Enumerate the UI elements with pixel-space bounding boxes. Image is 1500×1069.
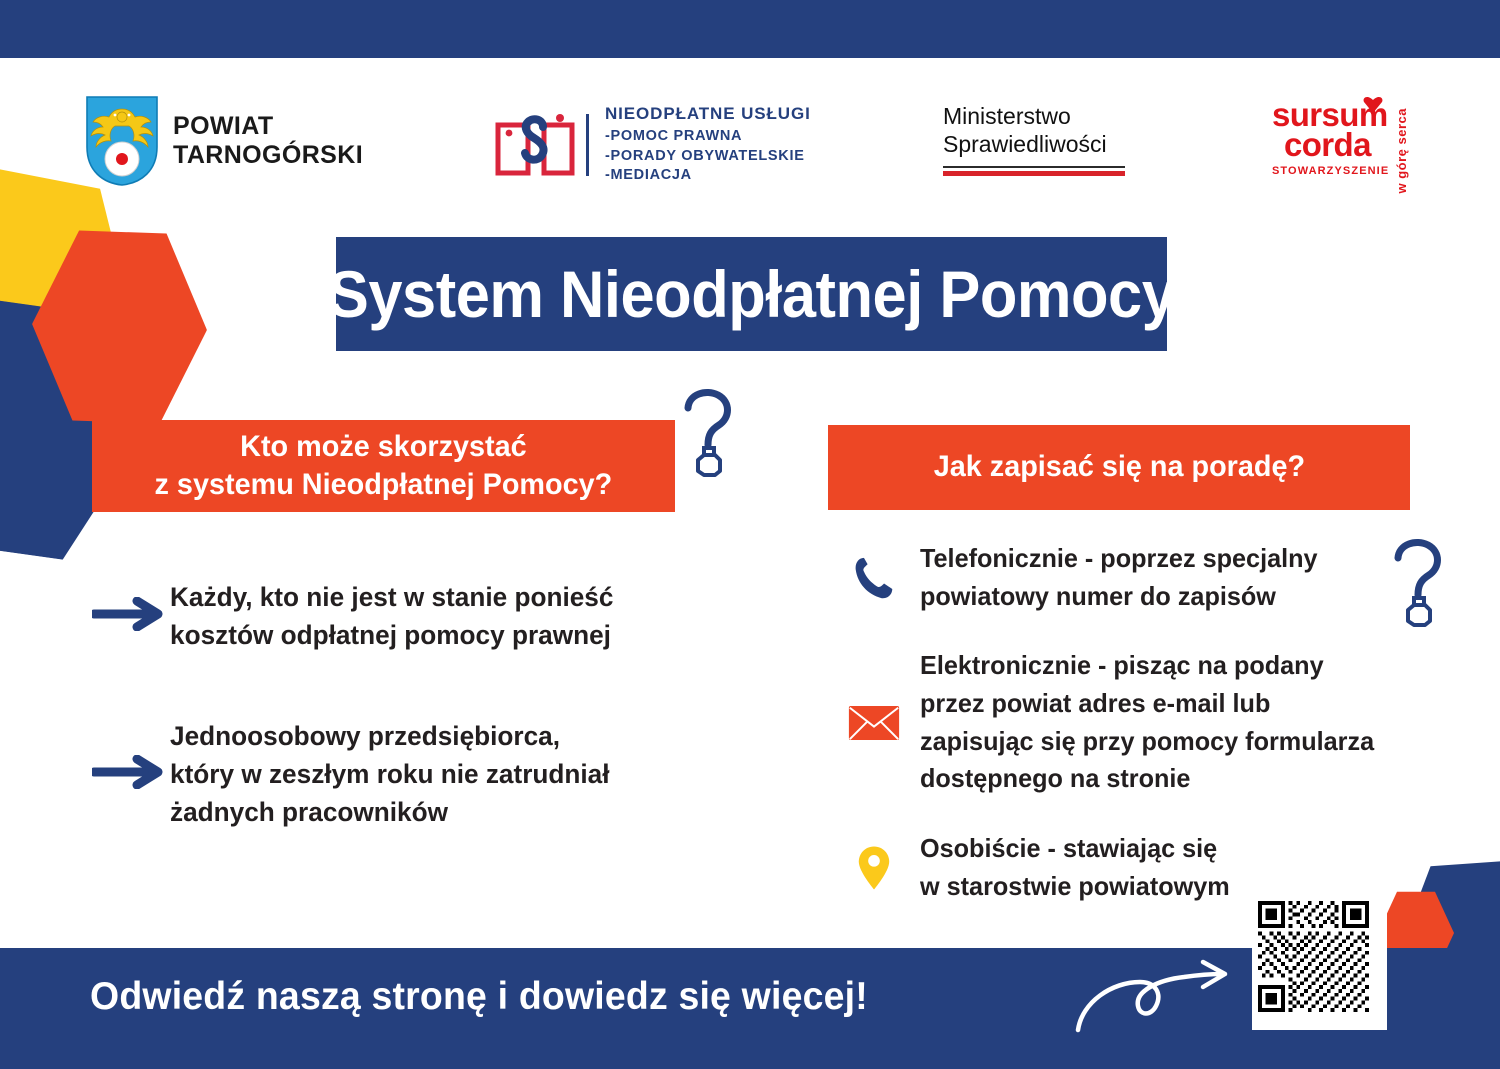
powiat-name: POWIAT TARNOGÓRSKI [173,112,363,171]
ministerstwo-text: Ministerstwo Sprawiedliwości [943,102,1125,158]
sursum-association: STOWARZYSZENIE [1272,165,1389,177]
list-item: Jednoosobowy przedsiębiorca, który w zes… [92,717,712,832]
paragraph-book-icon [492,107,580,183]
right-item-3-line-2: w starostwie powiatowym [920,868,1230,906]
list-item-text: Telefonicznie - poprzez specjalny powiat… [920,540,1318,615]
question-mark-icon-left [678,386,742,478]
right-item-2-line-2: przez powiat adres e-mail lub [920,685,1374,723]
curved-arrow-icon [1072,958,1252,1036]
left-item-2-line-1: Jednoosobowy przedsiębiorca, [170,717,610,755]
ministerstwo-rule-black [943,166,1125,168]
section-header-left-line-2: z systemu Nieodpłatnej Pomocy? [155,466,613,504]
logo-row: POWIAT TARNOGÓRSKI NIEODPŁATNE USŁUGI -P… [0,92,1500,197]
sursum-motto: w górę serca [1394,108,1409,194]
right-item-1-line-1: Telefonicznie - poprzez specjalny [920,540,1318,578]
left-item-1-line-2: kosztów odpłatnej pomocy prawnej [170,616,613,654]
nieodplatne-item-1: -POMOC PRAWNA [605,127,811,147]
list-item-text: Elektronicznie - pisząc na podany przez … [920,647,1374,798]
nieodplatne-text: NIEODPŁATNE USŁUGI -POMOC PRAWNA -PORADY… [605,104,811,186]
ministerstwo-line-1: Ministerstwo [943,102,1125,130]
poster-root: POWIAT TARNOGÓRSKI NIEODPŁATNE USŁUGI -P… [0,0,1500,1069]
right-column-list: Telefonicznie - poprzez specjalny powiat… [828,540,1408,938]
sursum-word-2: corda [1284,130,1389,160]
arrow-right-icon [92,755,170,794]
section-header-who-can-use: Kto może skorzystać z systemu Nieodpłatn… [92,420,675,512]
logo-divider-rule [586,114,589,176]
ministerstwo-rule-red [943,171,1125,176]
list-item: Każdy, kto nie jest w stanie ponieść kos… [92,578,712,655]
nieodplatne-title: NIEODPŁATNE USŁUGI [605,104,811,124]
list-item: Elektronicznie - pisząc na podany przez … [828,647,1408,798]
envelope-icon [828,705,920,741]
main-title-band: System Nieodpłatnej Pomocy [336,237,1167,351]
arrow-right-icon [92,597,170,636]
coat-of-arms-icon [85,95,159,187]
section-header-left-line-1: Kto może skorzystać [155,428,613,466]
logo-powiat-tarnogorski: POWIAT TARNOGÓRSKI [85,95,363,187]
logo-ministerstwo-sprawiedliwosci: Ministerstwo Sprawiedliwości [943,102,1125,176]
list-item-text: Jednoosobowy przedsiębiorca, który w zes… [170,717,610,832]
nieodplatne-item-3: -MEDIACJA [605,166,811,186]
phone-icon [828,555,920,601]
top-navy-band [0,0,1500,58]
left-item-1-line-1: Każdy, kto nie jest w stanie ponieść [170,578,613,616]
heart-icon [1363,96,1383,114]
right-item-2-line-4: dostępnego na stronie [920,760,1374,798]
sursum-wordmark: sursum corda STOWARZYSZENIE [1272,100,1389,177]
location-pin-icon [828,844,920,892]
right-item-2-line-3: zapisując się przy pomocy formularza [920,723,1374,761]
section-header-right-line-1: Jak zapisać się na poradę? [933,448,1304,486]
nieodplatne-item-2: -PORADY OBYWATELSKIE [605,147,811,167]
right-item-3-line-1: Osobiście - stawiając się [920,830,1230,868]
left-item-2-line-2: który w zeszłym roku nie zatrudniał [170,755,610,793]
left-item-2-line-3: żadnych pracowników [170,793,610,831]
list-item-text: Każdy, kto nie jest w stanie ponieść kos… [170,578,613,655]
section-header-how-to-register: Jak zapisać się na poradę? [828,425,1410,510]
qr-code-icon[interactable] [1252,895,1387,1030]
ministerstwo-line-2: Sprawiedliwości [943,130,1125,158]
left-column-list: Każdy, kto nie jest w stanie ponieść kos… [92,578,712,894]
list-item: Telefonicznie - poprzez specjalny powiat… [828,540,1408,615]
logo-sursum-corda: sursum corda STOWARZYSZENIE w górę serca [1272,100,1409,194]
logo-nieodplatne-uslugi: NIEODPŁATNE USŁUGI -POMOC PRAWNA -PORADY… [492,104,811,186]
right-item-2-line-1: Elektronicznie - pisząc na podany [920,647,1374,685]
powiat-line-1: POWIAT [173,112,363,142]
list-item-text: Osobiście - stawiając się w starostwie p… [920,830,1230,905]
section-header-left-text: Kto może skorzystać z systemu Nieodpłatn… [155,428,613,505]
powiat-line-2: TARNOGÓRSKI [173,141,363,171]
section-header-right-text: Jak zapisać się na poradę? [933,448,1304,486]
footer-cta-text: Odwiedź naszą stronę i dowiedz się więce… [90,975,868,1019]
right-item-1-line-2: powiatowy numer do zapisów [920,578,1318,616]
page-title: System Nieodpłatnej Pomocy [328,256,1175,332]
